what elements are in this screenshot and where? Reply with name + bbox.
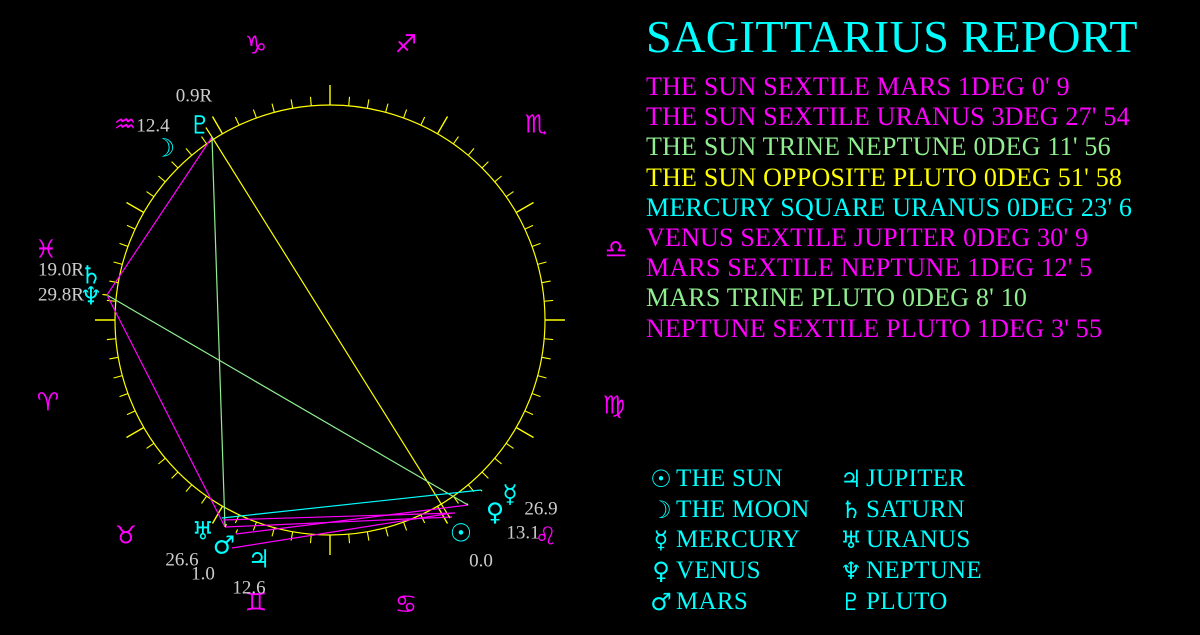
- ring-tick-minor: [538, 376, 547, 378]
- moon-icon: ☽: [646, 498, 676, 522]
- ring-tick-minor: [386, 528, 388, 537]
- legend-label: URANUS: [866, 526, 971, 554]
- legend-label: THE MOON: [676, 496, 810, 524]
- ring-tick-minor: [482, 472, 488, 478]
- ring-tick-minor: [367, 532, 369, 541]
- planet-legend: ☉THE SUN☽THE MOON☿MERCURY♀VENUS♂MARS ♃JU…: [646, 464, 1066, 622]
- ring-tick-minor: [542, 357, 551, 359]
- ring-tick-major: [126, 428, 143, 438]
- aspect-line: MARS SEXTILE NEPTUNE 1DEG 12' 5: [646, 253, 1194, 283]
- aspect-line: THE SUN SEXTILE URANUS 3DEG 27' 54: [646, 102, 1194, 132]
- legend-row-jupiter: ♃JUPITER: [836, 464, 1026, 495]
- ring-tick-minor: [202, 496, 207, 503]
- ring-tick-minor: [525, 225, 533, 229]
- jupiter-degree-label: 12.6: [232, 579, 265, 598]
- ring-tick-minor: [453, 137, 458, 144]
- ring-tick-minor: [158, 458, 165, 464]
- jupiter-icon: ♃: [836, 467, 866, 491]
- ring-tick-minor: [147, 192, 154, 197]
- ring-tick-minor: [172, 162, 178, 168]
- legend-row-the-moon: ☽THE MOON: [646, 495, 836, 526]
- aries-sign-icon: ♈: [37, 390, 59, 415]
- saturn-degree-label: 19.0R: [38, 261, 84, 280]
- legend-label: MARS: [676, 588, 748, 616]
- ring-tick-minor: [538, 262, 547, 264]
- ring-tick-minor: [120, 394, 128, 397]
- cancer-sign-icon: ♋: [395, 592, 417, 617]
- pluto-degree-label: 0.9R: [176, 87, 212, 106]
- sun-degree-label: 0.0: [469, 552, 493, 571]
- ring-tick-minor: [120, 243, 128, 246]
- planet-pointer-jupiter: [236, 530, 238, 533]
- aquarius-sign-icon: ♒: [114, 112, 136, 137]
- pisces-sign-icon: ♓: [35, 237, 57, 262]
- sun-icon: ☉: [646, 467, 676, 491]
- ring-tick-minor: [235, 117, 239, 125]
- virgo-sign-icon: ♍: [603, 393, 625, 418]
- ring-tick-minor: [482, 162, 488, 168]
- legend-row-uranus: ♅URANUS: [836, 525, 1026, 556]
- ring-tick-minor: [147, 443, 154, 448]
- neptune-degree-label: 29.8R: [38, 286, 84, 305]
- legend-row-mercury: ☿MERCURY: [646, 525, 836, 556]
- ring-tick-minor: [542, 281, 551, 283]
- ring-tick-minor: [127, 225, 135, 229]
- ring-tick-minor: [114, 376, 123, 378]
- ring-tick-major: [438, 116, 448, 133]
- ring-tick-minor: [404, 110, 407, 118]
- legend-label: SATURN: [866, 496, 965, 524]
- mars-icon: ♂: [646, 590, 676, 614]
- mercury-icon: ☿: [646, 528, 676, 552]
- ring-tick-minor: [107, 339, 116, 340]
- ring-tick-minor: [506, 192, 513, 197]
- legend-row-mars: ♂MARS: [646, 586, 836, 617]
- uranus-icon: ♅: [836, 528, 866, 552]
- ring-tick-major: [126, 203, 143, 213]
- ring-tick-major: [516, 428, 533, 438]
- neptune-icon: ♆: [836, 559, 866, 583]
- ring-tick-minor: [495, 176, 502, 182]
- ring-tick-minor: [107, 300, 116, 301]
- legend-column-right: ♃JUPITER♄SATURN♅URANUS♆NEPTUNE♇PLUTO: [836, 464, 1026, 622]
- aspect-chord-pluto-sun: [212, 137, 450, 518]
- zodiac-ring: [115, 105, 545, 535]
- aspect-line: MERCURY SQUARE URANUS 0DEG 23' 6: [646, 193, 1194, 223]
- ring-tick-minor: [253, 110, 256, 118]
- report-panel: SAGITTARIUS REPORT THE SUN SEXTILE MARS …: [646, 6, 1194, 366]
- sagittarius-sign-icon: ♐: [395, 32, 417, 57]
- mercury-degree-label: 26.9: [524, 500, 557, 519]
- aspect-list: THE SUN SEXTILE MARS 1DEG 0' 9THE SUN SE…: [646, 72, 1194, 344]
- ring-tick-minor: [404, 522, 407, 530]
- mercury-icon: ☿: [502, 482, 517, 507]
- moon-degree-label: 12.4: [136, 117, 169, 136]
- pluto-icon: ♇: [836, 590, 866, 614]
- capricorn-sign-icon: ♑: [245, 33, 267, 58]
- aspect-chord-pluto-mars: [212, 137, 225, 527]
- taurus-sign-icon: ♉: [115, 523, 137, 548]
- ring-tick-minor: [109, 357, 118, 359]
- sun-icon: ☉: [450, 521, 472, 546]
- legend-column-left: ☉THE SUN☽THE MOON☿MERCURY♀VENUS♂MARS: [646, 464, 836, 622]
- planet-pointer-mercury: [481, 490, 482, 491]
- ring-tick-major: [213, 116, 223, 133]
- planet-pointer-neptune: [102, 294, 107, 295]
- ring-tick-minor: [158, 176, 165, 182]
- ring-tick-minor: [349, 97, 350, 106]
- mars-icon: ♂: [213, 533, 235, 558]
- pluto-icon: ♇: [189, 113, 211, 138]
- aspect-line: THE SUN TRINE NEPTUNE 0DEG 11' 56: [646, 132, 1194, 162]
- aspect-line: MARS TRINE PLUTO 0DEG 8' 10: [646, 283, 1194, 313]
- ring-tick-minor: [421, 117, 425, 125]
- ring-tick-minor: [367, 99, 369, 108]
- astrology-report-page: ♑♐♏♎♍♌♋♊♉♈♓♒♇0.9R☽12.4♄19.0R♆29.8R♅26.6♂…: [0, 0, 1200, 630]
- jupiter-icon: ♃: [248, 547, 270, 572]
- ring-tick-minor: [495, 458, 502, 464]
- legend-row-the-sun: ☉THE SUN: [646, 464, 836, 495]
- ring-tick-minor: [114, 262, 123, 264]
- ring-tick-minor: [272, 104, 274, 113]
- legend-row-pluto: ♇PLUTO: [836, 586, 1026, 617]
- aspect-chord-neptune-sun: [107, 295, 468, 505]
- uranus-icon: ♅: [192, 519, 214, 544]
- mars-degree-label: 1.0: [191, 565, 215, 584]
- moon-icon: ☽: [153, 136, 175, 161]
- ring-tick-major: [516, 203, 533, 213]
- legend-label: VENUS: [676, 557, 761, 585]
- page-title: SAGITTARIUS REPORT: [646, 6, 1194, 68]
- legend-row-saturn: ♄SATURN: [836, 495, 1026, 526]
- venus-degree-label: 13.1: [506, 524, 539, 543]
- aspect-line: THE SUN OPPOSITE PLUTO 0DEG 51' 58: [646, 163, 1194, 193]
- ring-tick-minor: [186, 148, 192, 155]
- ring-tick-minor: [386, 104, 388, 113]
- ring-tick-minor: [544, 300, 553, 301]
- scorpio-sign-icon: ♏: [525, 112, 547, 137]
- ring-tick-minor: [532, 394, 540, 397]
- aspect-line: VENUS SEXTILE JUPITER 0DEG 30' 9: [646, 223, 1194, 253]
- venus-icon: ♀: [646, 559, 676, 583]
- ring-tick-minor: [109, 281, 118, 283]
- ring-tick-minor: [186, 485, 192, 492]
- ring-tick-minor: [544, 339, 553, 340]
- ring-tick-minor: [525, 411, 533, 415]
- ring-tick-minor: [127, 411, 135, 415]
- aspect-chord-venus-jupiter: [236, 505, 468, 534]
- legend-label: PLUTO: [866, 588, 948, 616]
- legend-row-venus: ♀VENUS: [646, 556, 836, 587]
- legend-label: NEPTUNE: [866, 557, 982, 585]
- saturn-icon: ♄: [836, 498, 866, 522]
- ring-tick-minor: [349, 534, 350, 543]
- natal-chart-wheel: ♑♐♏♎♍♌♋♊♉♈♓♒♇0.9R☽12.4♄19.0R♆29.8R♅26.6♂…: [0, 0, 646, 630]
- aspect-line: THE SUN SEXTILE MARS 1DEG 0' 9: [646, 72, 1194, 102]
- ring-tick-minor: [532, 243, 540, 246]
- ring-tick-minor: [310, 97, 311, 106]
- legend-row-neptune: ♆NEPTUNE: [836, 556, 1026, 587]
- ring-tick-minor: [468, 148, 474, 155]
- ring-tick-minor: [291, 532, 293, 541]
- legend-label: THE SUN: [676, 465, 783, 493]
- ring-tick-minor: [506, 443, 513, 448]
- ring-tick-minor: [291, 99, 293, 108]
- legend-label: JUPITER: [866, 465, 965, 493]
- libra-sign-icon: ♎: [605, 237, 627, 262]
- aspect-line: NEPTUNE SEXTILE PLUTO 1DEG 3' 55: [646, 314, 1194, 344]
- ring-tick-minor: [172, 472, 178, 478]
- legend-label: MERCURY: [676, 526, 800, 554]
